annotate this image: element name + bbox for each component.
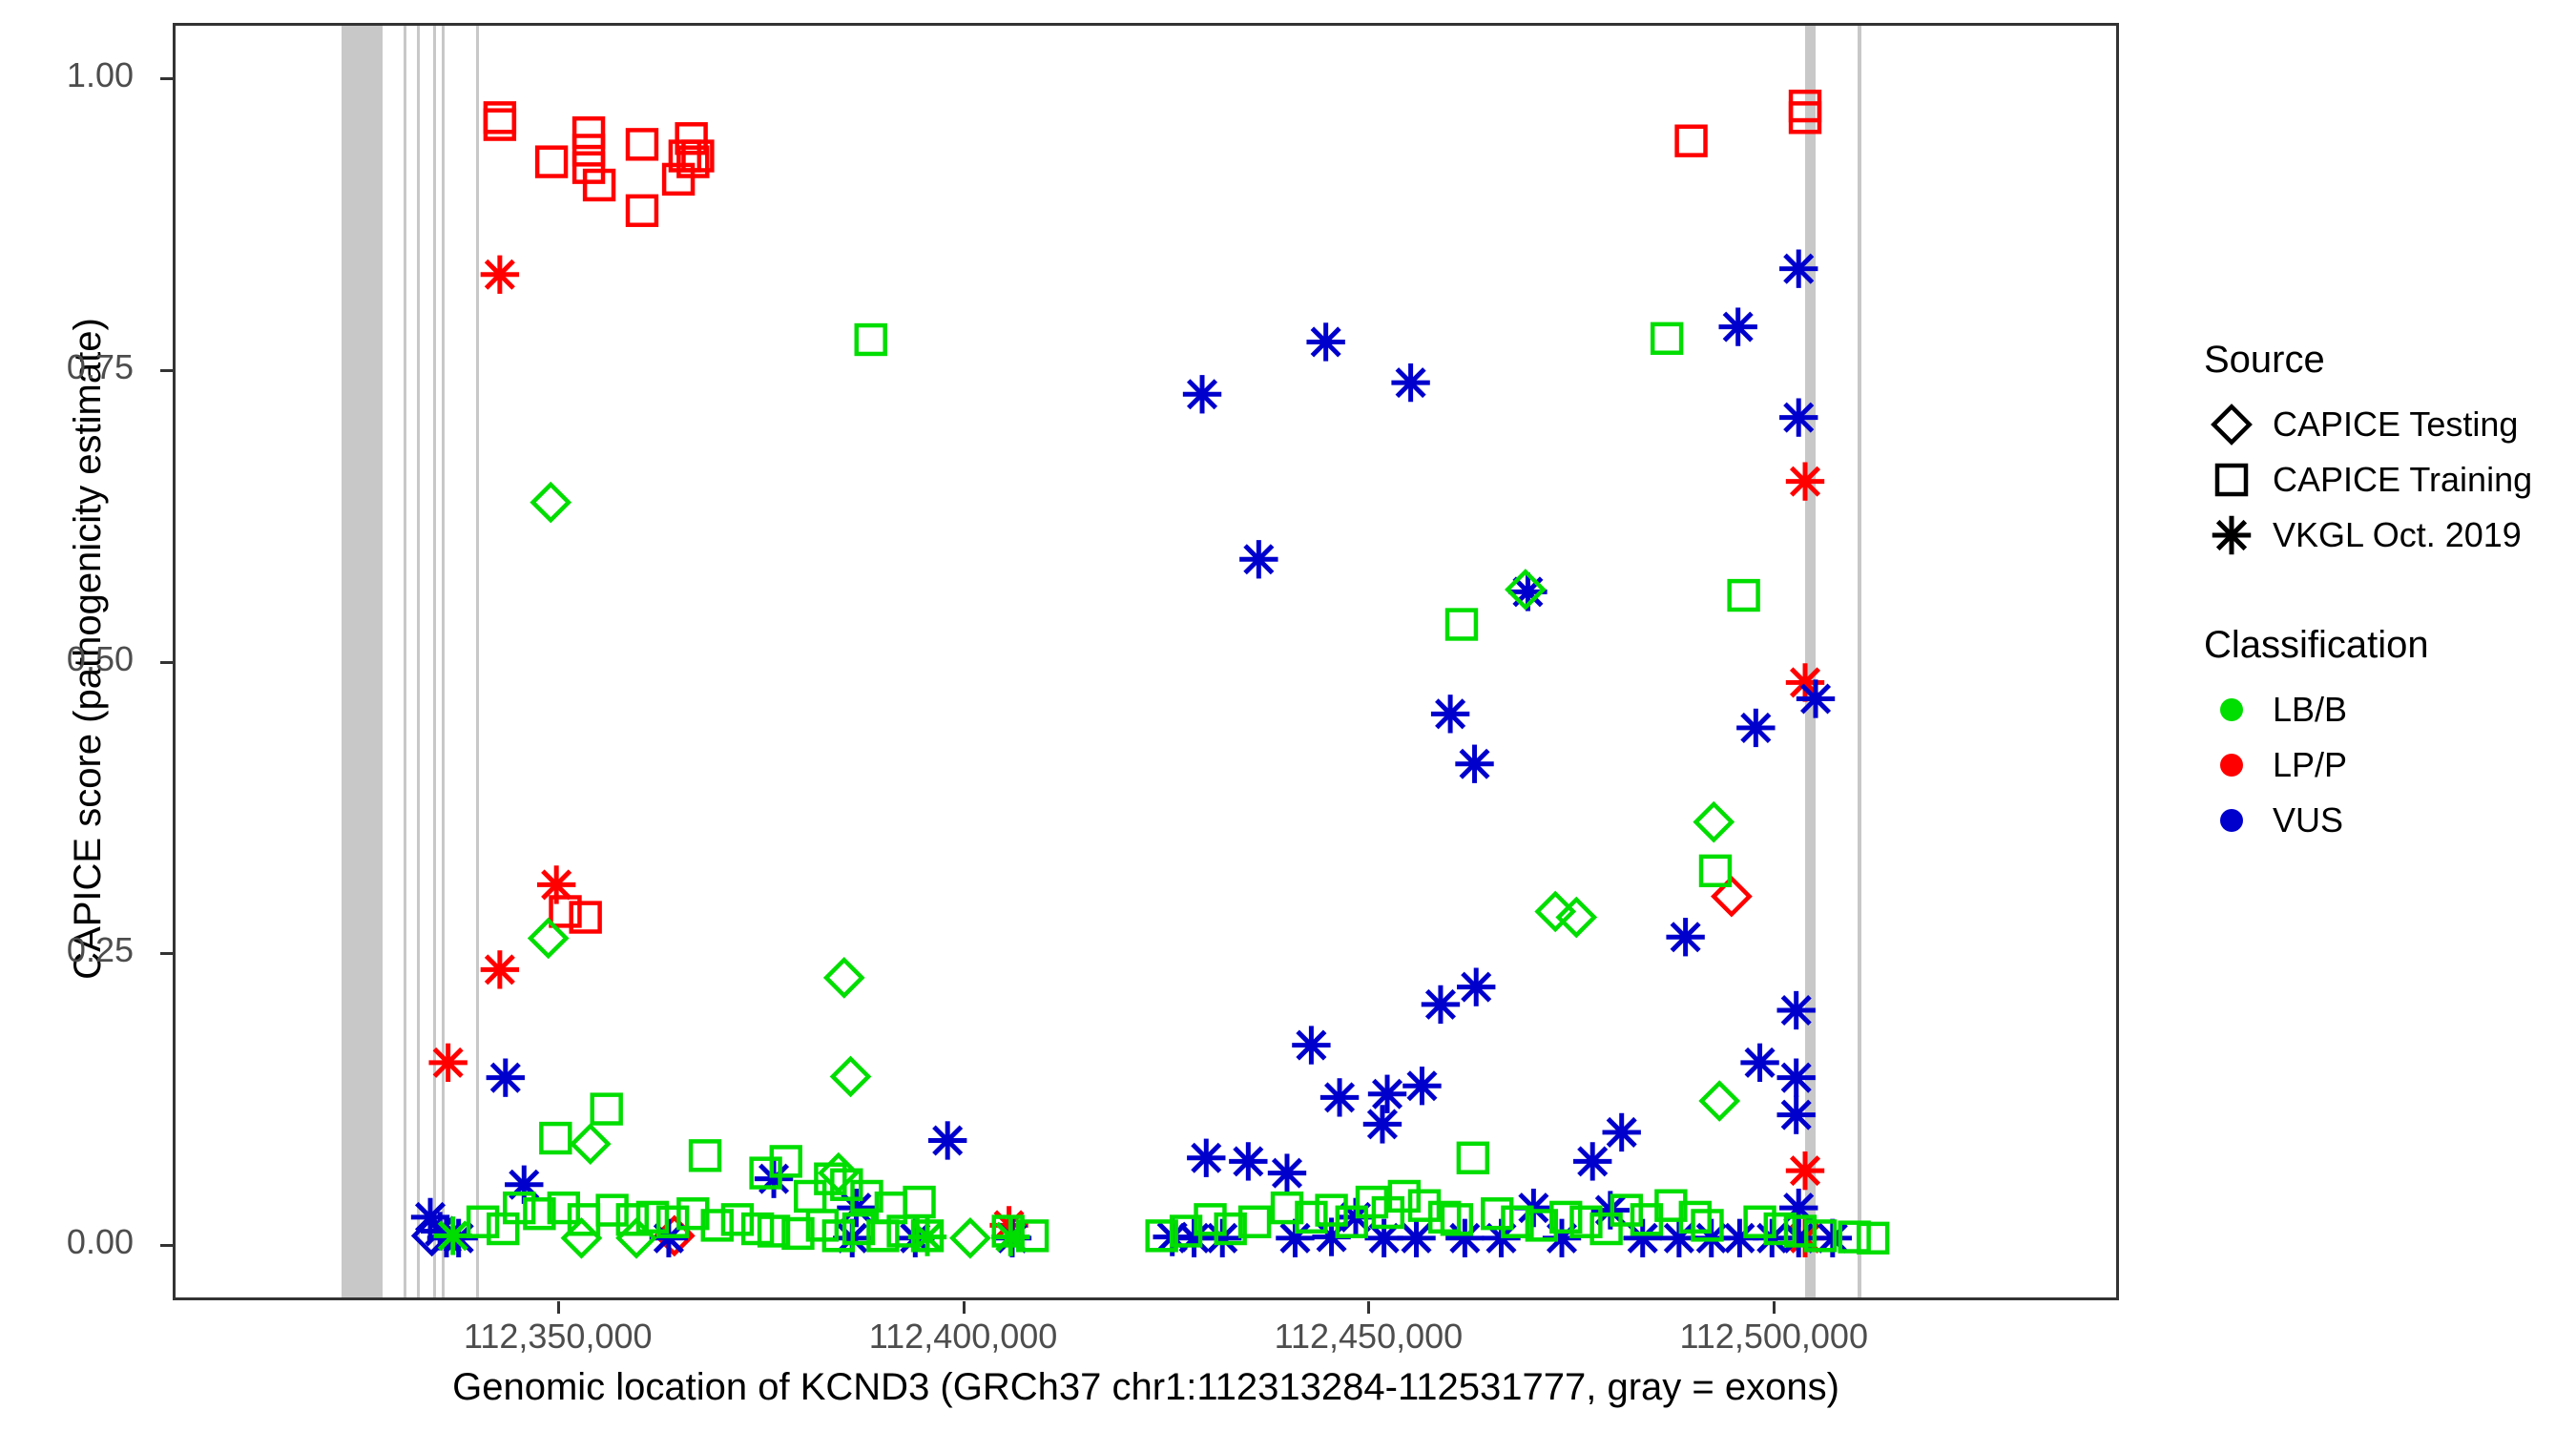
y-tick-label: 0.00 (0, 1222, 134, 1262)
data-point (592, 1095, 621, 1124)
legend-group: ClassificationLB/BLP/PVUS (2204, 624, 2566, 848)
data-series (411, 250, 1852, 1257)
data-point (1677, 127, 1706, 156)
data-series (656, 879, 1749, 1254)
legend-item[interactable]: LP/P (2204, 737, 2566, 793)
y-tick-label: 0.75 (0, 347, 134, 387)
data-point (1786, 1151, 1824, 1190)
data-point (468, 1208, 497, 1236)
data-point (1402, 1067, 1441, 1105)
x-axis-title: Genomic location of KCND3 (GRCh37 chr1:1… (173, 1366, 2119, 1409)
y-tick-mark (160, 1244, 173, 1247)
y-tick-label: 1.00 (0, 55, 134, 95)
data-point (574, 135, 603, 164)
data-series (486, 92, 1819, 931)
data-point (572, 1126, 608, 1161)
data-point (628, 130, 656, 158)
data-point (1776, 1096, 1815, 1134)
legend-item[interactable]: VUS (2204, 793, 2566, 848)
legend-item[interactable]: CAPICE Training (2204, 452, 2566, 508)
data-point (585, 171, 613, 199)
data-point (1776, 991, 1815, 1029)
legend-item[interactable]: VKGL Oct. 2019 (2204, 508, 2566, 563)
legend-title: Source (2204, 339, 2566, 382)
data-point (1363, 1105, 1402, 1143)
x-tick-label: 112,350,000 (464, 1317, 653, 1357)
data-point (1483, 1199, 1511, 1228)
y-tick-mark (160, 77, 173, 80)
data-point (1603, 1113, 1641, 1151)
data-point (1187, 1139, 1225, 1177)
data-point (1776, 1059, 1815, 1097)
y-tick-label: 0.25 (0, 930, 134, 970)
data-point (574, 118, 603, 147)
data-point (1779, 250, 1818, 288)
x-tick-label: 112,400,000 (869, 1317, 1058, 1357)
data-point (1410, 1192, 1439, 1220)
data-point (1292, 1026, 1330, 1064)
x-tick-mark (557, 1301, 560, 1314)
data-point (908, 1217, 946, 1255)
legend-item-label: CAPICE Testing (2259, 404, 2518, 445)
data-point (1229, 1142, 1267, 1180)
data-point (1652, 324, 1681, 353)
data-point (1447, 611, 1476, 639)
data-point (1791, 92, 1819, 120)
legend-item-label: LB/B (2259, 690, 2347, 730)
data-point (1779, 398, 1818, 436)
data-point (1445, 1219, 1484, 1257)
data-point (1457, 967, 1495, 1006)
data-point (1797, 679, 1835, 717)
y-tick-mark (160, 661, 173, 664)
capice-scatter-figure: CAPICE score (pathogenicity estimate) 0.… (0, 0, 2576, 1431)
data-point (905, 1188, 934, 1216)
data-point (1391, 363, 1429, 402)
data-point (952, 1220, 987, 1255)
data-point (628, 197, 656, 225)
data-point (428, 1044, 467, 1082)
data-point (487, 1059, 525, 1097)
data-point (537, 148, 566, 176)
data-point (857, 325, 885, 354)
y-tick-mark (160, 369, 173, 372)
circle-icon (2204, 682, 2259, 737)
circle-icon (2204, 737, 2259, 793)
data-point (755, 1160, 793, 1198)
data-point (1320, 1078, 1359, 1116)
data-point (1455, 745, 1493, 783)
data-point (486, 103, 514, 132)
data-point (991, 1217, 1029, 1255)
data-point (481, 950, 519, 988)
data-point (1239, 540, 1278, 578)
data-point (928, 1121, 966, 1159)
data-point (1696, 804, 1732, 840)
data-point (1573, 1142, 1611, 1180)
data-point (1730, 581, 1758, 610)
data-point (1791, 103, 1819, 132)
data-point (1268, 1153, 1306, 1192)
data-point (1786, 462, 1824, 500)
data-point (481, 256, 519, 294)
legend-item-label: VKGL Oct. 2019 (2259, 515, 2522, 555)
data-point (1431, 695, 1469, 733)
data-point-layer (176, 26, 2116, 1297)
data-series (428, 256, 1824, 1257)
x-tick-mark (1773, 1301, 1776, 1314)
data-series (468, 324, 1887, 1253)
diamond-icon (2204, 397, 2259, 452)
y-tick-label: 0.50 (0, 639, 134, 679)
data-point (1736, 709, 1775, 747)
data-point (574, 154, 603, 182)
asterisk-icon (2204, 508, 2259, 563)
x-tick-label: 112,450,000 (1275, 1317, 1464, 1357)
data-point (1740, 1044, 1778, 1082)
data-point (1859, 1224, 1887, 1253)
data-point (1666, 918, 1704, 956)
data-point (533, 485, 569, 520)
legend-title: Classification (2204, 624, 2566, 667)
data-point (826, 960, 862, 995)
data-point (796, 1182, 824, 1211)
circle-icon (2204, 793, 2259, 848)
data-point (434, 1216, 472, 1255)
data-point (1306, 322, 1344, 361)
data-point (1368, 1075, 1406, 1113)
square-icon (2204, 452, 2259, 508)
data-point (1459, 1144, 1487, 1172)
legend-group: SourceCAPICE TestingCAPICE TrainingVKGL … (2204, 339, 2566, 563)
x-tick-mark (1367, 1301, 1370, 1314)
legend: SourceCAPICE TestingCAPICE TrainingVKGL … (2204, 339, 2566, 909)
x-tick-mark (963, 1301, 966, 1314)
data-point (1702, 1083, 1737, 1118)
data-point (1701, 857, 1730, 885)
data-point (1203, 1219, 1241, 1257)
data-point (598, 1196, 627, 1225)
data-point (1183, 375, 1221, 413)
data-point (691, 1141, 719, 1170)
plot-panel (173, 23, 2119, 1300)
y-tick-mark (160, 952, 173, 955)
data-point (486, 111, 514, 139)
legend-item-label: CAPICE Training (2259, 460, 2532, 500)
legend-item[interactable]: CAPICE Testing (2204, 397, 2566, 452)
data-point (541, 1124, 570, 1152)
x-tick-label: 112,500,000 (1679, 1317, 1868, 1357)
data-point (833, 1059, 868, 1094)
legend-item-label: VUS (2259, 800, 2343, 840)
data-point (1422, 985, 1460, 1024)
data-point (1719, 307, 1757, 345)
legend-item[interactable]: LB/B (2204, 682, 2566, 737)
legend-item-label: LP/P (2259, 745, 2347, 785)
data-point (537, 865, 575, 903)
